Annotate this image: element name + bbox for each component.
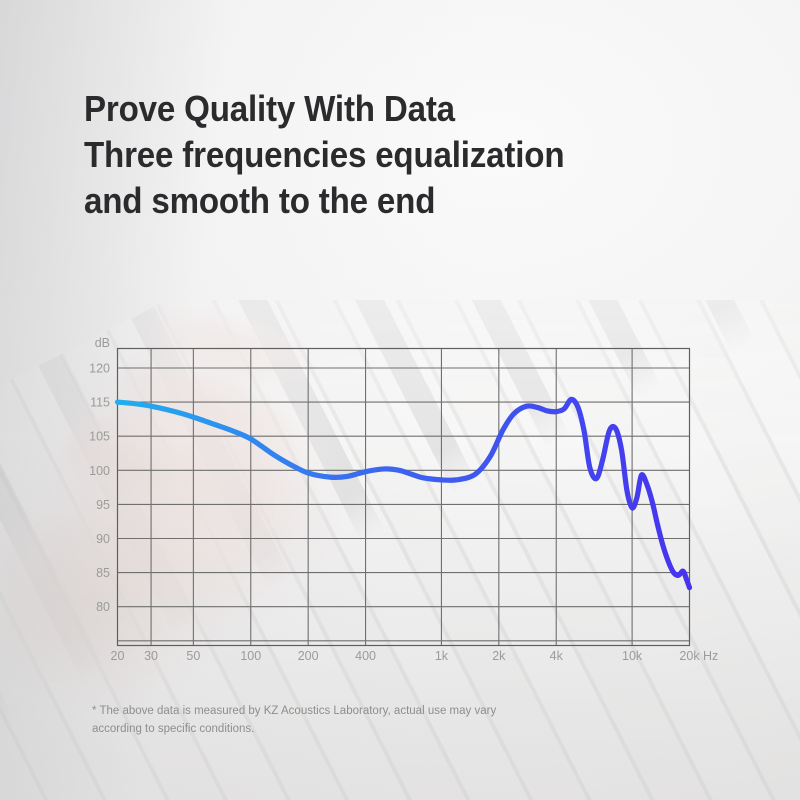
y-axis-tick-label: 80	[96, 600, 110, 614]
y-axis-tick-label: 115	[90, 396, 110, 410]
x-axis-tick-label: 200	[298, 649, 319, 663]
plot-frame	[118, 349, 690, 646]
y-axis-tick-label: 95	[96, 498, 110, 512]
y-axis-tick-label: 85	[96, 566, 110, 580]
grid-minor-vertical	[151, 349, 632, 646]
x-axis-tick-label: 20k	[679, 649, 700, 663]
x-axis-unit-label: Hz	[703, 649, 718, 663]
x-axis-tick-label: 20	[111, 649, 125, 663]
headline-line-3: and smooth to the end	[84, 178, 691, 224]
y-axis-tick-label: 100	[89, 464, 110, 478]
footnote-line-2: according to specific conditions.	[92, 721, 692, 739]
x-axis-tick-label: 1k	[435, 649, 449, 663]
x-axis-tick-label: 10k	[622, 649, 643, 663]
y-axis-tick-label: 90	[96, 532, 110, 546]
y-axis-tick-labels: 12011510510095908580	[89, 362, 110, 615]
x-axis-tick-label: 100	[240, 649, 261, 663]
headline-line-2: Three frequencies equalization	[84, 132, 691, 178]
headline-line-1: Prove Quality With Data	[84, 86, 691, 132]
x-axis-tick-label: 2k	[492, 649, 506, 663]
y-axis-tick-label: 120	[89, 362, 110, 376]
frequency-response-curve	[118, 399, 690, 587]
footnote-line-1: * The above data is measured by KZ Acous…	[92, 703, 692, 721]
x-axis-tick-label: 50	[186, 649, 200, 663]
y-axis-tick-label: 105	[89, 430, 110, 444]
footnote-block: * The above data is measured by KZ Acous…	[92, 703, 692, 739]
y-axis-unit-label: dB	[95, 336, 110, 350]
x-axis-tick-labels: 2030501002004001k2k4k10k20k	[111, 649, 701, 663]
headline-block: Prove Quality With Data Three frequencie…	[84, 86, 744, 224]
x-axis-tick-label: 400	[355, 649, 376, 663]
x-axis-tick-label: 4k	[550, 649, 564, 663]
chart-gridlines	[118, 368, 690, 641]
x-axis-tick-label: 30	[144, 649, 158, 663]
